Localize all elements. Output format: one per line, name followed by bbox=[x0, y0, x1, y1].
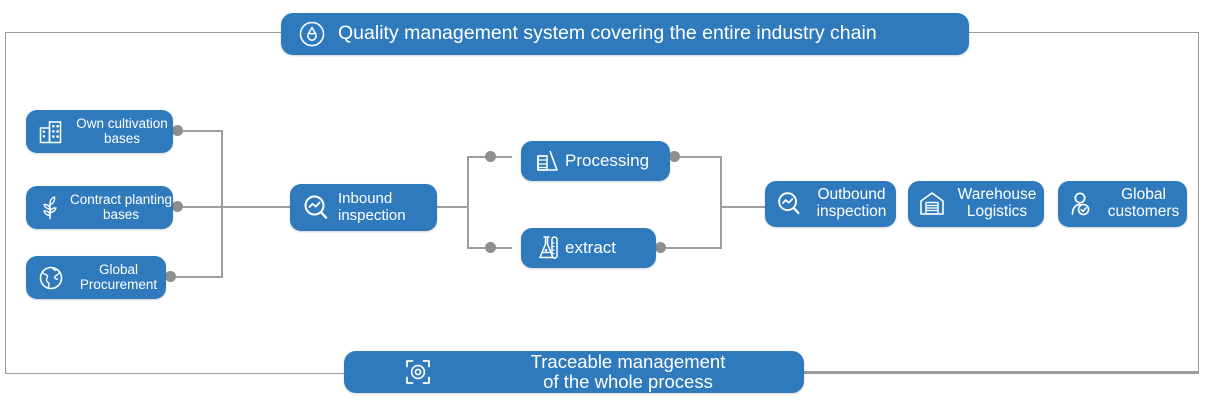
node-label: Global customers bbox=[1100, 187, 1187, 220]
connector-dot-processing-in bbox=[485, 151, 496, 162]
connector-processing-out bbox=[680, 156, 722, 158]
connector-source2-h bbox=[183, 206, 291, 208]
node-label: Warehouse Logistics bbox=[950, 187, 1044, 220]
connector-merge-bus bbox=[720, 156, 722, 249]
connector-inbound-out bbox=[437, 206, 469, 208]
connector-dot-source2 bbox=[172, 201, 183, 212]
title-banner-label: Quality management system covering the e… bbox=[338, 23, 877, 44]
connector-source1-h bbox=[183, 130, 223, 132]
diagram-canvas: Quality management system covering the e… bbox=[0, 0, 1206, 405]
node-own-cultivation-bases[interactable]: Own cultivation bases bbox=[26, 110, 173, 153]
node-label: Inbound inspection bbox=[338, 191, 437, 223]
connector-dot-source1 bbox=[172, 125, 183, 136]
node-extract[interactable]: extract bbox=[521, 228, 656, 268]
node-label: Outbound inspection bbox=[807, 187, 896, 220]
node-outbound-inspection[interactable]: Outbound inspection bbox=[765, 181, 896, 227]
connector-source3-h bbox=[176, 276, 223, 278]
node-label: Own cultivation bases bbox=[71, 117, 173, 146]
node-warehouse-logistics[interactable]: Warehouse Logistics bbox=[908, 181, 1044, 227]
node-processing[interactable]: Processing bbox=[521, 141, 670, 181]
sprout-icon bbox=[36, 193, 64, 223]
magnifier-wave-icon bbox=[774, 189, 804, 219]
node-global-procurement[interactable]: Global Procurement bbox=[26, 256, 166, 299]
connector-extract-out bbox=[666, 247, 722, 249]
node-inbound-inspection[interactable]: Inbound inspection bbox=[290, 184, 437, 231]
node-label: Global Procurement bbox=[71, 263, 166, 292]
title-banner: Quality management system covering the e… bbox=[281, 13, 969, 55]
node-global-customers[interactable]: Global customers bbox=[1058, 181, 1187, 227]
node-label: Processing bbox=[565, 152, 649, 170]
connector-dot-extract-out bbox=[655, 242, 666, 253]
node-contract-planting-bases[interactable]: Contract planting bases bbox=[26, 186, 173, 229]
building-icon bbox=[36, 117, 66, 147]
connector-merge-out bbox=[720, 206, 767, 208]
person-check-icon bbox=[1067, 189, 1097, 219]
warehouse-icon bbox=[917, 189, 947, 219]
connector-dot-source3 bbox=[165, 271, 176, 282]
bottom-banner-label: Traceable management of the whole proces… bbox=[452, 352, 804, 392]
bottom-banner: Traceable management of the whole proces… bbox=[344, 351, 804, 393]
flask-icon bbox=[533, 233, 561, 263]
connector-mid-split-bus bbox=[467, 156, 469, 249]
globe-icon bbox=[36, 263, 66, 293]
magnifier-wave-icon bbox=[300, 192, 332, 224]
scan-target-icon bbox=[402, 356, 434, 388]
connector-dot-processing-out bbox=[669, 151, 680, 162]
node-label: Contract planting bases bbox=[69, 193, 173, 222]
factory-icon bbox=[533, 147, 561, 175]
recycle-circle-icon bbox=[298, 20, 326, 48]
connector-bottom-banner-right bbox=[804, 371, 1199, 373]
connector-left-bus bbox=[221, 130, 223, 277]
node-label: extract bbox=[565, 239, 616, 257]
connector-dot-extract-in bbox=[485, 242, 496, 253]
